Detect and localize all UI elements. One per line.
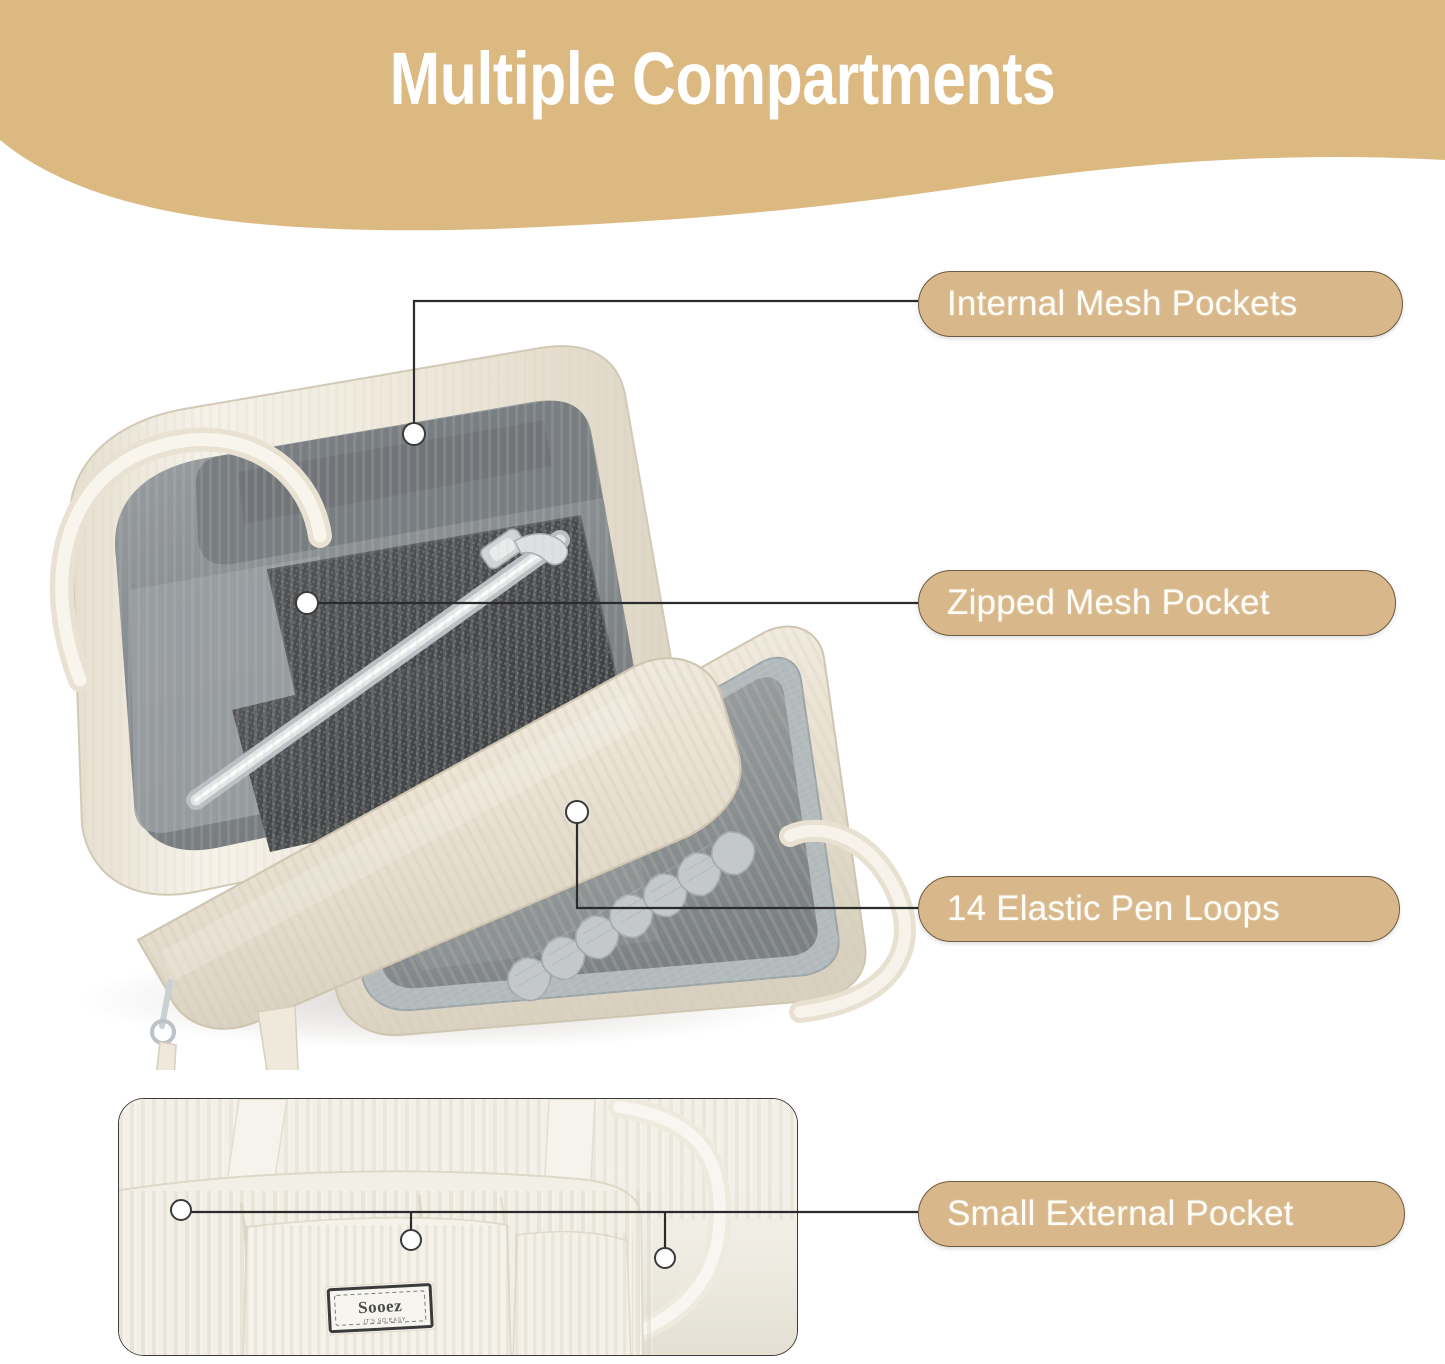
svg-text:Sooez: Sooez (358, 1296, 403, 1317)
brand-label: Sooez IT'S SO EASY (325, 1281, 435, 1335)
product-photo-open-case (20, 240, 920, 1070)
banner-shape (0, 0, 1445, 240)
page-title: Multiple Compartments (130, 42, 1315, 116)
callout-label-4: Small External Pocket (947, 1194, 1294, 1234)
callout-label-3: 14 Elastic Pen Loops (947, 889, 1280, 929)
infographic-page: Multiple Compartments (0, 0, 1445, 1364)
open-case-illustration (20, 240, 920, 1070)
callout-pill-elastic-pen-loops[interactable]: 14 Elastic Pen Loops (918, 876, 1400, 942)
callout-label-1: Internal Mesh Pockets (947, 284, 1297, 324)
callout-label-2: Zipped Mesh Pocket (947, 583, 1270, 623)
callout-pill-zipped-mesh-pocket[interactable]: Zipped Mesh Pocket (918, 570, 1396, 636)
case-bottom-tab (258, 1006, 301, 1070)
callout-pill-small-external-pocket[interactable]: Small External Pocket (918, 1181, 1405, 1247)
exterior-pocket-illustration: Sooez IT'S SO EASY (119, 1099, 798, 1356)
callout-pill-internal-mesh-pockets[interactable]: Internal Mesh Pockets (918, 271, 1403, 337)
header-banner: Multiple Compartments (0, 0, 1445, 240)
product-photo-exterior-pocket: Sooez IT'S SO EASY (118, 1098, 798, 1356)
